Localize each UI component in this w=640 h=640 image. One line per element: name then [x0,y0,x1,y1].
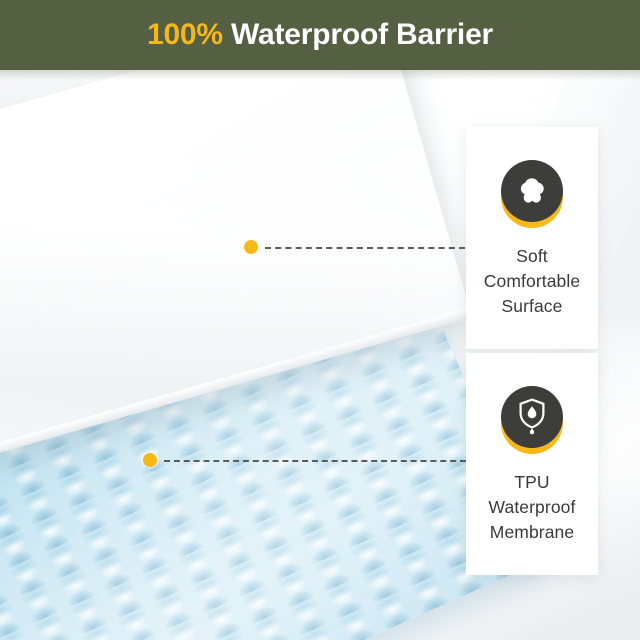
title-highlight: 100% [147,18,223,51]
connector-line-bottom [164,460,466,462]
product-feature-image: 100% Waterproof Barrier Soft Comfortable… [0,0,640,640]
feature-label-line: Comfortable [470,269,594,294]
shield-droplet-icon [501,386,563,448]
shield-droplet-icon-badge [501,386,563,454]
header-drop-shadow [0,70,640,80]
feature-label-line: Soft [470,244,594,269]
title-rest: Waterproof Barrier [223,18,493,51]
feature-card-soft-comfortable-surface[interactable]: Soft Comfortable Surface [466,127,598,349]
cloud-icon-badge [501,160,563,228]
connector-dot-top [244,240,258,254]
feature-label-line: TPU [470,470,594,495]
header-banner: 100% Waterproof Barrier [0,0,640,70]
connector-dot-bottom [143,453,157,467]
cloud-icon [501,160,563,222]
feature-card-label: Soft Comfortable Surface [470,244,594,319]
feature-label-line: Membrane [470,520,594,545]
feature-label-line: Waterproof [470,495,594,520]
feature-card-tpu-waterproof-membrane[interactable]: TPU Waterproof Membrane [466,353,598,575]
feature-card-label: TPU Waterproof Membrane [470,470,594,545]
feature-label-line: Surface [470,294,594,319]
connector-line-top [265,247,465,249]
page-title: 100% Waterproof Barrier [147,20,493,50]
